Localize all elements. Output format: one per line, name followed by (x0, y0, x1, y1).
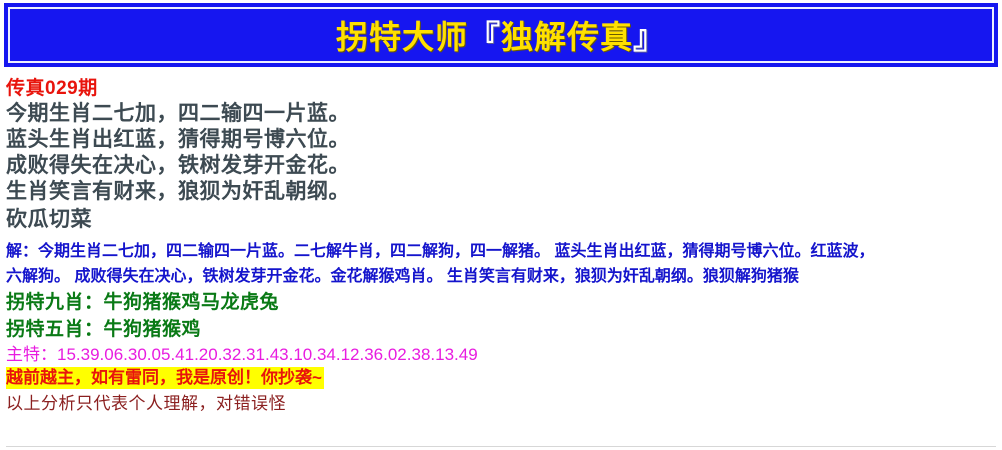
subnote-text: 砍瓜切菜 (6, 205, 996, 235)
verse-line-2: 蓝头生肖出红蓝，猜得期号博六位。 (6, 127, 996, 153)
header-banner: 拐特大师『独解传真』 (4, 3, 998, 67)
main-numbers-label: 主特： (6, 345, 57, 364)
bracket-close: 』 (633, 18, 666, 56)
disclaimer-note: 以上分析只代表个人理解，对错误怪 (6, 391, 996, 417)
five-animals-row: 拐特五肖：牛狗猪猴鸡 (6, 316, 996, 343)
verse-line-1: 今期生肖二七加，四二输四一片蓝。 (6, 101, 996, 127)
five-animals-value: 牛狗猪猴鸡 (104, 319, 202, 340)
issue-title: 传真029期 (6, 76, 996, 101)
nine-animals-row: 拐特九肖：牛狗猪猴鸡马龙虎兔 (6, 289, 996, 316)
header-banner-wrapper: 拐特大师『独解传真』 (0, 0, 1002, 72)
analysis-line-2: 六解狗。 成败得失在决心，铁树发芽开金花。金花解猴鸡肖。 生肖笑言有财来，狼狈为… (6, 264, 996, 289)
nine-animals-label: 拐特九肖： (6, 292, 104, 313)
content-area: 传真029期 今期生肖二七加，四二输四一片蓝。 蓝头生肖出红蓝，猜得期号博六位。… (0, 72, 1002, 417)
main-numbers-value: 15.39.06.30.05.41.20.32.31.43.10.34.12.3… (57, 345, 478, 364)
verse-line-3: 成败得失在决心，铁树发芽开金花。 (6, 153, 996, 179)
verse-line-4: 生肖笑言有财来，狼狈为奸乱朝纲。 (6, 179, 996, 205)
copyright-highlight-text: 越前越主，如有雷同，我是原创！你抄袭~ (6, 367, 324, 389)
copyright-highlight-row: 越前越主，如有雷同，我是原创！你抄袭~ (6, 367, 324, 389)
bottom-divider (6, 446, 996, 447)
nine-animals-value: 牛狗猪猴鸡马龙虎兔 (104, 292, 280, 313)
page-title-sub: 独解传真 (501, 18, 633, 56)
analysis-line-1: 解：今期生肖二七加，四二输四一片蓝。二七解牛肖，四二解狗，四一解猪。 蓝头生肖出… (6, 239, 996, 264)
five-animals-label: 拐特五肖： (6, 319, 104, 340)
main-numbers-row: 主特：15.39.06.30.05.41.20.32.31.43.10.34.1… (6, 343, 996, 367)
analysis-block: 解：今期生肖二七加，四二输四一片蓝。二七解牛肖，四二解狗，四一解猪。 蓝头生肖出… (6, 239, 996, 289)
page-title-main: 拐特大师 (336, 18, 468, 56)
bracket-open: 『 (468, 18, 501, 56)
page-title: 拐特大师『独解传真』 (336, 12, 666, 58)
